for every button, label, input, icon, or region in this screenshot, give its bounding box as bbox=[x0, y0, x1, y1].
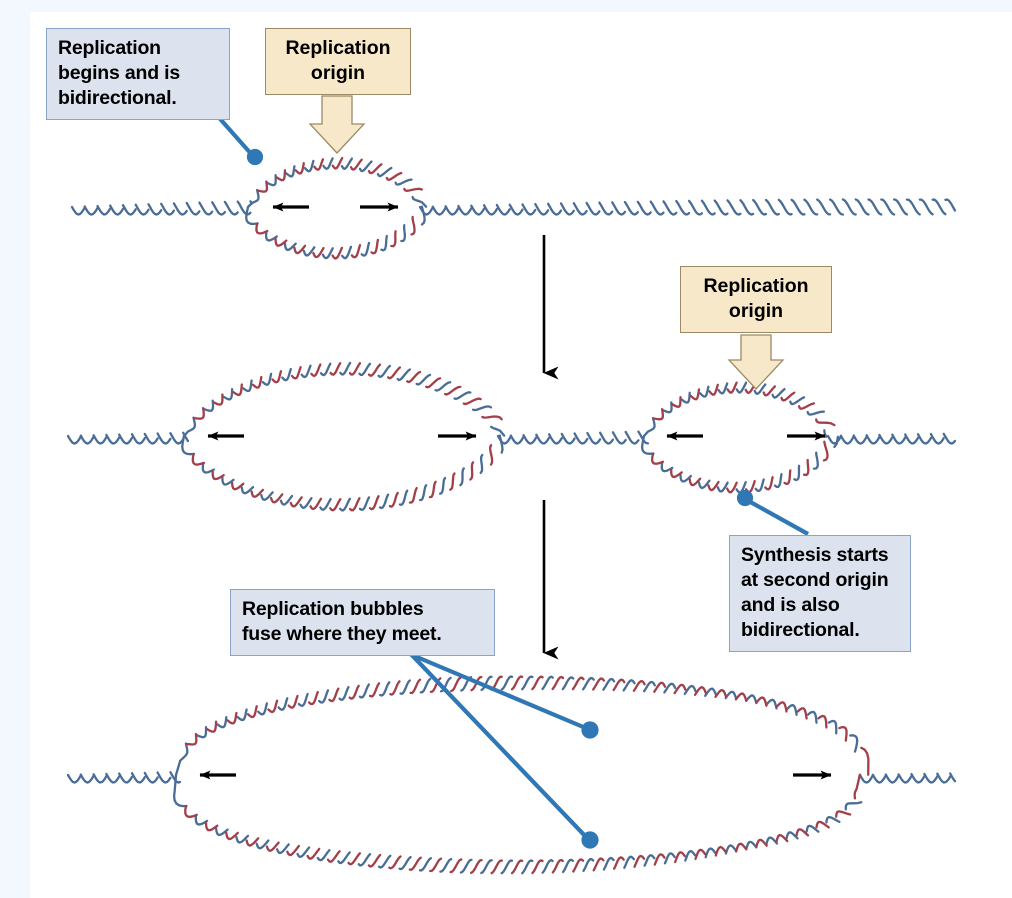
dna-bubble-s3-top-b bbox=[861, 748, 868, 775]
dna-bubble-s2a-top-a bbox=[455, 392, 471, 399]
dna-bubble-s1-top-b bbox=[314, 159, 323, 169]
dna-bubble-s2b-top-a bbox=[790, 397, 804, 404]
dna-bubble-s3-bottom-b bbox=[553, 860, 563, 872]
dna-bubble-s2a-top-a bbox=[417, 375, 430, 385]
dna-bubble-s2a-top-b bbox=[311, 365, 320, 376]
dna-bubble-s2b-bottom-b bbox=[804, 460, 808, 475]
dna-bubble-s3-bottom-a bbox=[440, 859, 451, 872]
dna-bubble-s2b-top-b bbox=[672, 397, 680, 407]
dna-duplex-s1-left-a bbox=[149, 204, 162, 214]
dna-bubble-s3-top-b bbox=[350, 686, 359, 699]
dna-bubble-s2b-top-a bbox=[644, 418, 655, 436]
dna-duplex-s1-right-a bbox=[651, 202, 664, 215]
dna-bubble-s2a-top-b bbox=[350, 363, 360, 374]
dna-bubble-s3-bottom-b bbox=[532, 860, 542, 873]
dna-duplex-s1-left-a bbox=[225, 202, 238, 215]
leader-dot-icon-fuse-a bbox=[584, 724, 597, 737]
dna-bubble-s3-top-b bbox=[228, 713, 237, 723]
dna-duplex-s3-right-a bbox=[912, 774, 925, 782]
dna-bubble-s2a-bottom-b bbox=[390, 493, 398, 507]
dna-duplex-s2-middle-a bbox=[524, 435, 537, 443]
dna-bubble-s2a-top-a bbox=[491, 427, 504, 436]
dna-bubble-s3-top-b bbox=[532, 677, 542, 690]
dna-bubble-s3-top-b bbox=[309, 692, 318, 704]
dna-duplex-s1-right-b bbox=[945, 200, 955, 211]
dna-duplex-s2-left-b bbox=[158, 434, 171, 444]
dna-duplex-s2-right-a bbox=[931, 434, 944, 444]
dna-bubble-s3-bottom-a bbox=[706, 849, 716, 858]
dna-bubble-s3-top-a bbox=[238, 710, 247, 721]
dna-bubble-s1-top-b bbox=[333, 158, 343, 168]
dna-bubble-s2a-bottom-b bbox=[450, 474, 454, 490]
dna-duplex-s1-right-b bbox=[843, 200, 856, 215]
dna-bubble-s3-top-b bbox=[329, 689, 338, 701]
dna-duplex-s2-middle-a bbox=[575, 434, 588, 444]
dna-bubble-s3-top-a bbox=[502, 677, 512, 690]
dna-bubble-s3-bottom-a bbox=[766, 838, 777, 845]
dna-duplex-s2-middle-b bbox=[587, 433, 600, 443]
dna-duplex-s1-right-a bbox=[728, 200, 741, 214]
dna-bubble-s3-bottom-a bbox=[584, 859, 594, 871]
dna-bubble-s1-top-a bbox=[324, 158, 333, 168]
dna-duplex-s1-left-b bbox=[187, 203, 200, 214]
dna-bubble-s2a-top-b bbox=[273, 371, 281, 382]
dna-duplex-s1-right-a bbox=[625, 202, 638, 214]
dna-bubble-s3-top-a bbox=[563, 677, 574, 689]
dna-bubble-s2a-bottom-b bbox=[370, 496, 379, 509]
dna-bubble-s1-top-a bbox=[305, 161, 313, 171]
dna-bubble-s1-top-b bbox=[369, 164, 381, 173]
dna-bubble-s2a-bottom-a bbox=[481, 455, 483, 473]
dna-bubble-s3-top-b bbox=[573, 678, 584, 689]
dna-bubble-s3-top-a bbox=[421, 679, 430, 692]
dna-bubble-s2b-bottom-b bbox=[765, 477, 772, 489]
dna-bubble-s3-top-b bbox=[756, 698, 766, 706]
dna-bubble-s2a-bottom-b bbox=[470, 462, 473, 479]
dna-bubble-s2a-top-b bbox=[292, 367, 301, 378]
dna-duplex-s2-left-a bbox=[170, 433, 183, 443]
dna-replication-diagram bbox=[0, 0, 1012, 898]
dna-bubble-s3-top-a bbox=[543, 677, 553, 689]
dna-bubble-s3-bottom-b bbox=[471, 860, 482, 873]
dna-duplex-s2-right-b bbox=[841, 436, 854, 444]
dna-bubble-s3-top-b bbox=[370, 683, 379, 696]
dna-bubble-s2b-bottom-a bbox=[642, 436, 653, 454]
dna-bubble-s2b-top-b bbox=[782, 393, 795, 401]
dna-bubble-s3-bottom-a bbox=[746, 842, 756, 849]
dna-bubble-s3-top-a bbox=[197, 727, 206, 737]
dna-duplex-s1-right-b bbox=[869, 200, 882, 215]
dna-bubble-s3-top-a bbox=[360, 685, 369, 698]
dna-bubble-s3-bottom-b bbox=[836, 811, 850, 816]
dna-bubble-s2a-top-a bbox=[302, 366, 311, 377]
dna-bubble-s1-bottom-a bbox=[323, 248, 333, 258]
dna-bubble-s2b-bottom-b bbox=[785, 470, 791, 484]
dna-bubble-s2b-top-a bbox=[682, 393, 690, 403]
dna-bubble-s3-bottom-a bbox=[685, 851, 695, 860]
dna-bubble-s1-top-b bbox=[258, 182, 267, 192]
dna-bubble-s2a-top-b bbox=[407, 372, 420, 382]
dna-bubble-s3-bottom-b bbox=[185, 807, 197, 817]
dna-bubble-s3-top-b bbox=[716, 690, 726, 697]
dna-bubble-s3-top-a bbox=[380, 682, 389, 695]
dna-duplex-s2-middle-b bbox=[613, 432, 626, 443]
dna-duplex-s1-right-b bbox=[894, 200, 907, 215]
dna-duplex-s1-right-b bbox=[612, 202, 625, 214]
dna-duplex-s1-left-a bbox=[199, 203, 212, 215]
dna-bubble-s3-top-b bbox=[654, 683, 665, 692]
dna-bubble-s3-top-a bbox=[644, 682, 655, 691]
dna-bubble-s3-bottom-a bbox=[826, 817, 839, 822]
dna-bubble-s2b-top-b bbox=[691, 389, 699, 399]
dna-bubble-s3-bottom-b bbox=[328, 851, 340, 861]
dna-bubble-s3-bottom-b bbox=[655, 854, 665, 864]
dna-bubble-s3-bottom-b bbox=[756, 840, 766, 847]
dna-duplex-s3-left-a bbox=[145, 773, 158, 783]
dna-bubble-s1-bottom-b bbox=[313, 248, 323, 257]
dna-bubble-s1-bottom-a bbox=[381, 236, 386, 250]
dna-bubble-s3-top-a bbox=[522, 677, 532, 690]
dna-bubble-s1-bottom-a bbox=[362, 243, 369, 256]
callout-bubbles-fuse: Replication bubbles fuse where they meet… bbox=[230, 589, 495, 656]
dna-duplex-s1-right-a bbox=[830, 200, 843, 215]
origin-pointer-1 bbox=[310, 96, 364, 153]
dna-bubble-s3-top-a bbox=[319, 690, 328, 702]
dna-bubble-s2a-bottom-b bbox=[330, 499, 340, 510]
dna-bubble-s3-top-b bbox=[553, 677, 564, 689]
dna-duplex-s1-right-b bbox=[792, 200, 805, 215]
dna-bubble-s2a-bottom-a bbox=[400, 491, 407, 505]
dna-duplex-s2-left-a bbox=[119, 435, 132, 444]
dna-duplex-s2-middle-a bbox=[626, 432, 639, 443]
dna-bubble-s3-bottom-b bbox=[573, 860, 583, 872]
dna-duplex-s2-right-a bbox=[854, 436, 867, 444]
dna-bubble-s2a-bottom-a bbox=[182, 436, 194, 454]
dna-bubble-s2a-top-b bbox=[426, 378, 440, 387]
dna-duplex-s1-right-a bbox=[856, 200, 869, 215]
dna-bubble-s2a-top-a bbox=[340, 363, 350, 374]
dna-duplex-s1-left-b bbox=[212, 202, 225, 214]
dna-bubble-s3-bottom-a bbox=[522, 861, 532, 874]
dna-bubble-s2a-bottom-a bbox=[460, 468, 464, 485]
dna-duplex-s2-middle-b bbox=[536, 435, 549, 444]
dna-bubble-s3-bottom-a bbox=[420, 858, 431, 870]
dna-duplex-s3-right-b bbox=[899, 774, 912, 782]
dna-bubble-s2b-bottom-a bbox=[756, 480, 764, 492]
dna-bubble-s3-bottom-a bbox=[665, 854, 675, 864]
dna-bubble-s2a-top-a bbox=[359, 364, 370, 375]
dna-bubble-s3-top-b bbox=[818, 716, 826, 728]
dna-bubble-s2a-top-a bbox=[224, 389, 232, 399]
leader-line-synth bbox=[745, 499, 808, 534]
dna-bubble-s3-bottom-a bbox=[543, 860, 553, 873]
dna-bubble-s1-bottom-b bbox=[391, 231, 395, 246]
dna-bubble-s1-top-a bbox=[396, 180, 412, 185]
dna-bubble-s3-top-a bbox=[664, 684, 675, 693]
dna-bubble-s2a-top-a bbox=[184, 418, 195, 436]
dna-duplex-s1-right-a bbox=[599, 203, 612, 215]
dna-duplex-s1-right-b bbox=[535, 204, 548, 214]
dna-bubble-s2a-top-a bbox=[321, 364, 330, 375]
dna-bubble-s3-top-b bbox=[207, 722, 216, 732]
dna-duplex-s3-right-a bbox=[886, 775, 899, 783]
dna-duplex-s1-left-b bbox=[85, 207, 98, 215]
dna-bubble-s2b-top-a bbox=[700, 387, 708, 397]
dna-bubble-s3-bottom-a bbox=[645, 855, 655, 866]
dna-bubble-s2b-top-b bbox=[816, 419, 834, 425]
dna-bubble-s2b-bottom-b bbox=[727, 483, 737, 493]
dna-bubble-s3-top-b bbox=[593, 679, 604, 690]
dna-bubble-s2a-top-a bbox=[379, 366, 390, 377]
dna-duplex-s1-left-b bbox=[161, 204, 174, 215]
dna-bubble-s2b-bottom-a bbox=[718, 483, 728, 492]
dna-duplex-s2-middle-a bbox=[549, 434, 562, 443]
dna-bubble-s2a-bottom-b bbox=[430, 482, 436, 497]
dna-duplex-s1-right-b bbox=[587, 203, 600, 215]
dna-bubble-s3-top-a bbox=[767, 700, 777, 709]
dna-bubble-s3-bottom-b bbox=[675, 852, 685, 862]
dna-bubble-s2b-top-a bbox=[663, 402, 672, 412]
dna-duplex-s1-right-a bbox=[523, 204, 536, 214]
dna-duplex-s1-right-b bbox=[766, 200, 779, 215]
dna-bubble-s1-bottom-b bbox=[412, 217, 415, 235]
dna-bubble-s2a-bottom-a bbox=[440, 478, 445, 494]
dna-bubble-s3-top-b bbox=[777, 702, 787, 711]
dna-bubble-s2a-bottom-b bbox=[490, 445, 492, 464]
dna-duplex-s2-right-b bbox=[944, 434, 955, 444]
dna-bubble-s2b-top-b bbox=[799, 403, 814, 408]
dna-bubble-s3-top-a bbox=[829, 721, 837, 733]
dna-bubble-s2a-top-b bbox=[214, 395, 223, 405]
dna-bubble-s3-bottom-a bbox=[502, 861, 512, 874]
dna-bubble-s1-top-a bbox=[267, 175, 275, 185]
dna-bubble-s3-top-b bbox=[512, 677, 522, 690]
dna-duplex-s1-left-a bbox=[98, 206, 111, 214]
dna-duplex-s1-right-a bbox=[881, 200, 894, 215]
dna-bubble-s3-top-b bbox=[187, 734, 197, 745]
dna-bubble-s3-top-b bbox=[451, 678, 461, 691]
dna-duplex-s3-left-b bbox=[106, 774, 119, 783]
dna-duplex-s1-left-a bbox=[174, 203, 187, 214]
dna-bubble-s2a-top-b bbox=[445, 387, 460, 395]
dna-duplex-s3-left-a bbox=[119, 774, 132, 783]
dna-bubble-s3-bottom-a bbox=[400, 857, 411, 869]
dna-duplex-s3-left-a bbox=[94, 774, 107, 782]
dna-duplex-s2-left-a bbox=[68, 436, 81, 444]
dna-duplex-s1-right-a bbox=[804, 200, 817, 215]
label-replication-origin-2: Replication origin bbox=[680, 266, 832, 333]
dna-bubble-s3-bottom-a bbox=[846, 802, 862, 809]
dna-bubble-s2a-top-a bbox=[473, 407, 491, 411]
dna-bubble-s3-bottom-a bbox=[461, 860, 472, 873]
dna-bubble-s3-top-a bbox=[746, 695, 756, 703]
dna-duplex-s1-right-b bbox=[689, 201, 702, 215]
dna-bubble-s1-bottom-a bbox=[401, 225, 405, 241]
dna-bubble-s1-top-a bbox=[248, 190, 259, 207]
dna-duplex-s2-left-b bbox=[132, 434, 145, 443]
dna-bubble-s3-top-a bbox=[583, 678, 594, 689]
dna-bubble-s3-bottom-a bbox=[563, 860, 573, 872]
dna-bubble-s2a-top-a bbox=[282, 369, 291, 380]
dna-bubble-s1-top-a bbox=[413, 197, 427, 207]
dna-bubble-s3-top-b bbox=[634, 681, 645, 691]
dna-duplex-s1-right-b bbox=[817, 200, 830, 215]
dna-duplex-s1-right-a bbox=[446, 206, 459, 214]
dna-bubble-s2a-bottom-a bbox=[380, 495, 388, 508]
dna-duplex-s1-right-b bbox=[664, 201, 677, 214]
dna-bubble-s3-bottom-a bbox=[379, 856, 390, 868]
leader-dot-icon-begin bbox=[249, 151, 261, 163]
label-replication-origin-1: Replication origin bbox=[265, 28, 411, 95]
dna-bubble-s1-top-b bbox=[296, 163, 304, 173]
dna-bubble-s2a-top-a bbox=[243, 381, 251, 392]
dna-bubble-s3-bottom-b bbox=[614, 857, 624, 868]
dna-bubble-s3-bottom-b bbox=[635, 856, 645, 867]
leader-lines bbox=[214, 112, 808, 847]
dna-duplex-s3-left-a bbox=[68, 775, 81, 783]
dna-duplex-s2-left-a bbox=[94, 435, 107, 443]
dna-bubble-s2a-top-b bbox=[482, 417, 501, 420]
dna-duplex-s1-right-a bbox=[933, 200, 946, 215]
dna-bubble-s2a-top-a bbox=[436, 382, 451, 390]
dna-bubble-s2b-bottom-a bbox=[775, 474, 782, 487]
dna-duplex-s1-right-b bbox=[715, 201, 728, 215]
dna-bubble-s3-top-a bbox=[176, 744, 187, 776]
dna-duplex-s1-right-a bbox=[753, 200, 766, 214]
dna-duplex-s1-left-a bbox=[123, 205, 136, 214]
dna-duplex-s3-right-a bbox=[860, 775, 873, 783]
dna-bubble-s2b-bottom-b bbox=[652, 454, 663, 464]
dna-duplex-s1-left-b bbox=[136, 205, 149, 215]
dna-bubble-s3-top-b bbox=[268, 701, 277, 712]
dna-bubble-s3-bottom-b bbox=[777, 835, 788, 842]
dna-bubble-s2a-top-b bbox=[194, 408, 204, 419]
dna-bubble-s2b-bottom-a bbox=[814, 453, 818, 469]
dna-bubble-s2a-bottom-a bbox=[360, 497, 369, 509]
dna-bubble-s3-bottom-b bbox=[594, 859, 604, 871]
dna-bubble-s3-bottom-b bbox=[451, 860, 462, 873]
dna-bubble-s3-bottom-b bbox=[389, 857, 400, 869]
dna-bubble-s3-top-b bbox=[736, 694, 746, 701]
dna-duplex-s1-right-a bbox=[676, 201, 689, 214]
dna-duplex-s1-right-a bbox=[548, 204, 561, 215]
dna-bubble-s1-top-a bbox=[378, 168, 391, 176]
dna-bubble-s1-bottom-b bbox=[256, 224, 267, 233]
dna-duplex-s2-left-b bbox=[81, 436, 94, 444]
dna-bubble-s3-bottom-b bbox=[492, 861, 502, 874]
dna-bubble-s3-top-b bbox=[248, 706, 257, 717]
dna-bubble-s3-top-a bbox=[258, 703, 267, 714]
dna-bubble-s3-top-a bbox=[726, 692, 736, 699]
dna-bubble-s2b-top-a bbox=[808, 412, 824, 415]
callout-synthesis-second-origin: Synthesis starts at second origin and is… bbox=[729, 535, 911, 652]
dna-bubble-s1-bottom-b bbox=[333, 248, 342, 259]
dna-bubble-s3-top-b bbox=[675, 685, 686, 693]
dna-bubble-s2b-bottom-b bbox=[824, 442, 828, 461]
dna-bubble-s1-bottom-b bbox=[352, 245, 360, 257]
dna-bubble-s2a-top-b bbox=[388, 368, 400, 379]
dna-duplex-s1-right-a bbox=[702, 201, 715, 215]
dna-bubble-s3-bottom-a bbox=[726, 845, 736, 853]
dna-bubble-s3-top-a bbox=[299, 694, 308, 706]
dna-duplex-s3-right-b bbox=[873, 775, 886, 783]
dna-bubble-s2a-top-a bbox=[204, 401, 213, 411]
dna-duplex-s1-left-b bbox=[110, 206, 123, 215]
dna-duplex-s2-middle-a bbox=[600, 433, 613, 444]
dna-bubble-s2a-top-b bbox=[253, 377, 261, 388]
dna-duplex-s2-right-b bbox=[918, 434, 931, 443]
dna-bubble-s2a-bottom-b bbox=[350, 498, 359, 510]
dna-bubble-s3-bottom-b bbox=[410, 858, 421, 870]
dna-bubble-s3-bottom-b bbox=[512, 861, 522, 874]
dna-duplex-s1-right-a bbox=[907, 200, 920, 215]
dna-bubble-s3-top-b bbox=[798, 708, 807, 718]
dna-bubble-s1-top-a bbox=[360, 162, 372, 172]
dna-duplex-s1-right-b bbox=[561, 203, 574, 214]
dna-bubble-s2b-top-a bbox=[737, 383, 746, 393]
leader-dot-icon-synth bbox=[739, 492, 751, 504]
dna-duplex-s1-right-a bbox=[471, 206, 484, 215]
dna-bubble-s3-top-a bbox=[808, 712, 817, 723]
dna-duplex-s1-right-b bbox=[433, 207, 446, 215]
dna-duplex-s2-right-a bbox=[879, 435, 892, 443]
dna-bubble-s2a-top-b bbox=[331, 363, 341, 374]
dna-bubble-s3-bottom-a bbox=[481, 860, 491, 873]
dna-duplex-s3-left-b bbox=[81, 775, 94, 783]
dna-bubble-s2a-top-a bbox=[263, 374, 271, 385]
dna-bubble-s2a-bottom-b bbox=[410, 488, 417, 502]
dna-bubble-s2a-top-b bbox=[234, 385, 242, 395]
dna-bubble-s1-top-a bbox=[286, 166, 294, 176]
dna-bubble-s3-top-b bbox=[411, 680, 420, 693]
dna-duplex-s1-right-b bbox=[740, 200, 753, 214]
dna-duplex-s2-left-b bbox=[106, 435, 119, 444]
dna-bubble-s2a-bottom-a bbox=[320, 499, 330, 510]
dna-bubble-s1-top-b bbox=[404, 189, 422, 191]
dna-bubble-s3-bottom-a bbox=[174, 775, 186, 806]
dna-duplex-s1-right-b bbox=[484, 205, 497, 214]
dna-bubble-s2b-top-b bbox=[654, 409, 663, 419]
dna-duplex-s2-middle-a bbox=[498, 436, 511, 444]
callout-replication-begins: Replication begins and is bidirectional. bbox=[46, 28, 230, 120]
leader-dot-icon-fuse-b bbox=[584, 834, 597, 847]
dna-bubble-s2b-top-a bbox=[773, 389, 785, 398]
dna-duplex-s2-right-b bbox=[867, 435, 880, 443]
dna-bubble-s3-bottom-b bbox=[716, 847, 726, 856]
dna-bubble-s1-top-b bbox=[387, 173, 402, 180]
dna-bubble-s3-bottom-a bbox=[604, 858, 614, 870]
dna-bubble-s2b-top-b bbox=[728, 383, 737, 393]
dna-bubble-s3-top-a bbox=[705, 689, 716, 696]
dna-duplex-s2-right-b bbox=[892, 435, 905, 444]
dna-bubble-s3-bottom-b bbox=[430, 859, 441, 871]
dna-bubble-s3-top-a bbox=[217, 717, 226, 727]
dna-bubble-s2b-bottom-a bbox=[794, 466, 799, 480]
dna-bubble-s3-top-a bbox=[279, 698, 288, 710]
dna-bubble-s2b-top-a bbox=[719, 383, 728, 393]
dna-bubble-s3-top-b bbox=[695, 687, 706, 695]
dna-bubble-s1-bottom-b bbox=[372, 240, 378, 253]
dna-bubble-s3-bottom-a bbox=[359, 854, 370, 865]
dna-bubble-s3-top-a bbox=[685, 686, 696, 694]
dna-duplex-s1-right-b bbox=[920, 200, 933, 215]
dna-bubble-s2a-bottom-b bbox=[193, 454, 204, 464]
dna-bubble-s2b-bottom-b bbox=[708, 482, 718, 490]
dna-duplex-s1-right-b bbox=[510, 205, 523, 215]
dna-duplex-s1-right-b bbox=[458, 206, 471, 214]
dna-duplex-s1-right-b bbox=[638, 202, 651, 215]
dna-duplex-s3-right-a bbox=[937, 774, 950, 783]
